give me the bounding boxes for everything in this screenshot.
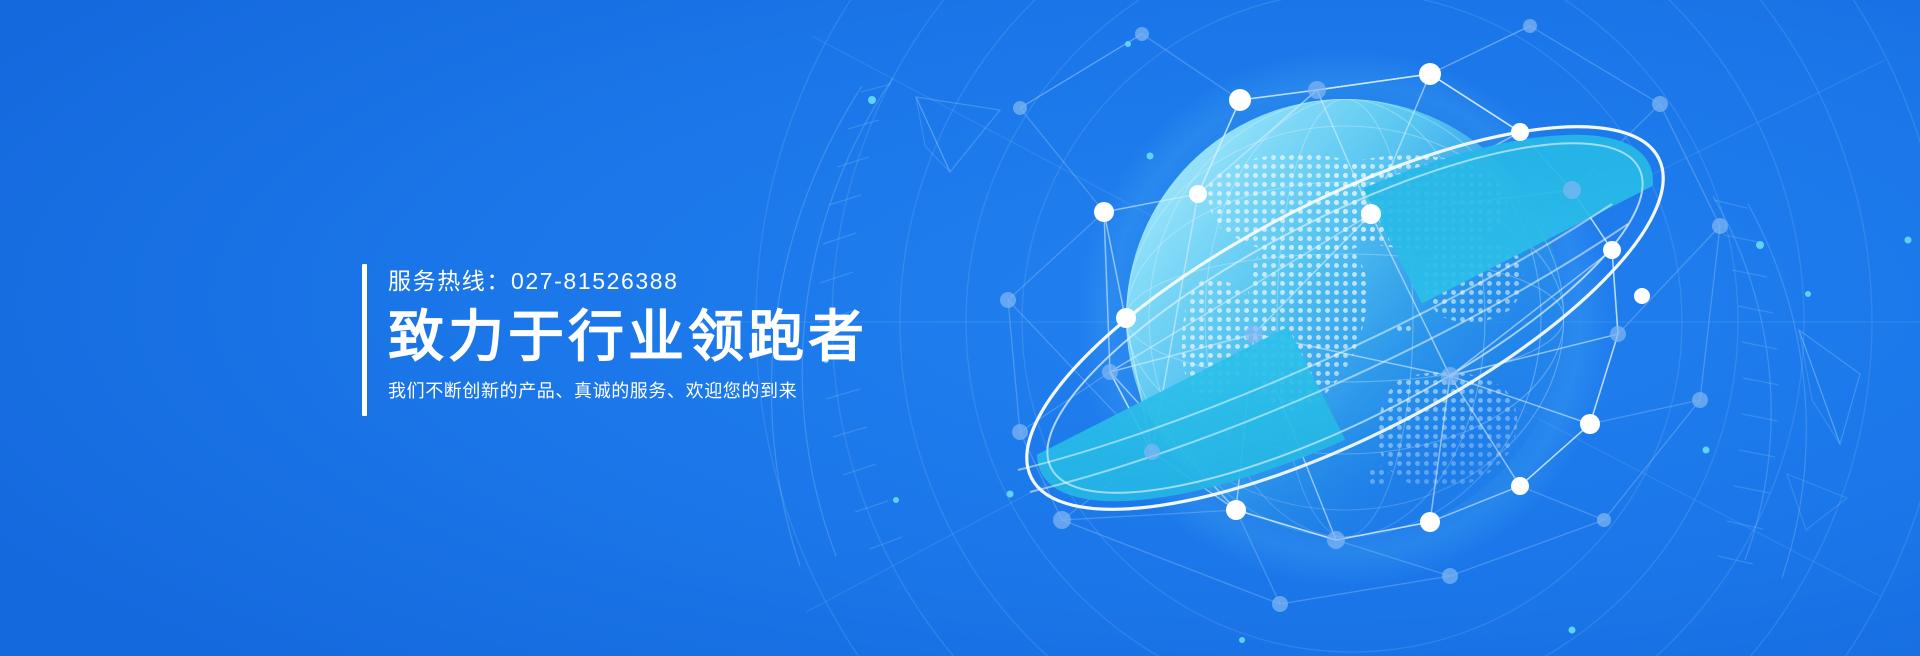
vertical-accent-bar-icon <box>362 264 367 416</box>
service-hotline-text: 服务热线：027-81526388 <box>388 264 868 296</box>
hero-background-artwork <box>0 0 1920 656</box>
page-title: 致力于行业领跑者 <box>388 296 868 370</box>
hero-copy-block: 服务热线：027-81526388 致力于行业领跑者 我们不断创新的产品、真诚的… <box>362 264 868 416</box>
hero-banner: 服务热线：027-81526388 致力于行业领跑者 我们不断创新的产品、真诚的… <box>0 0 1920 656</box>
hero-subtitle-text: 我们不断创新的产品、真诚的服务、欢迎您的到来 <box>388 370 868 404</box>
